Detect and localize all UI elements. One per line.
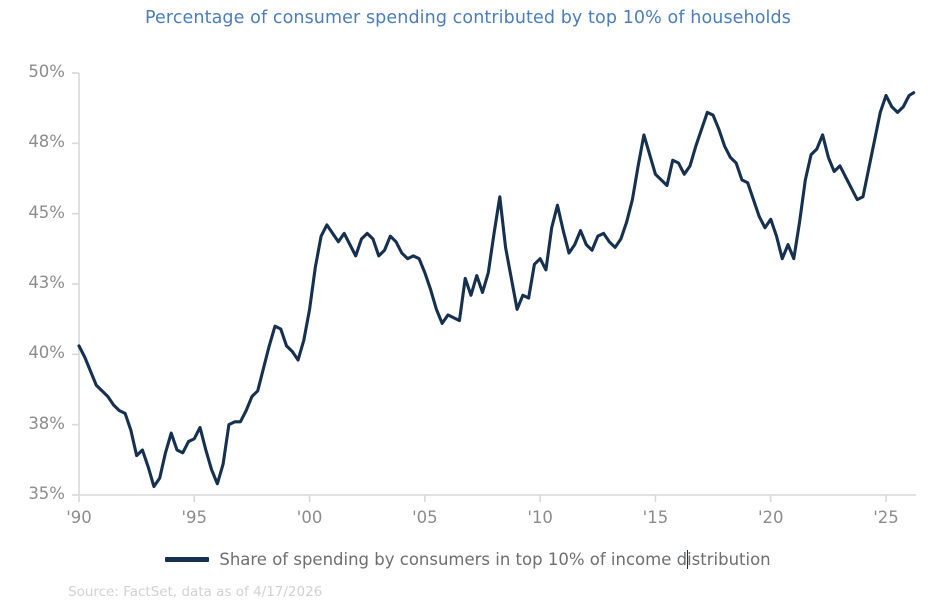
x-axis-tick-label: '20	[741, 508, 801, 527]
y-axis-tick-label: 48%	[3, 132, 65, 151]
x-axis-tick-label: '00	[280, 508, 340, 527]
source-note: Source: FactSet, data as of 4/17/2026	[68, 584, 322, 600]
x-axis-tick-label: '90	[49, 508, 109, 527]
legend-label[interactable]: Share of spending by consumers in top 10…	[219, 550, 770, 569]
y-axis-tick-label: 43%	[3, 273, 65, 292]
chart-legend: Share of spending by consumers in top 10…	[0, 550, 936, 569]
x-axis-tick-label: '05	[395, 508, 455, 527]
x-axis-tick-label: '15	[625, 508, 685, 527]
chart-figure: Percentage of consumer spending contribu…	[0, 0, 936, 615]
legend-line-swatch	[165, 557, 209, 562]
y-axis-tick-label: 38%	[3, 414, 65, 433]
x-axis-tick-label: '95	[164, 508, 224, 527]
data-series-line	[79, 93, 914, 487]
y-axis-tick-label: 35%	[3, 484, 65, 503]
legend-label-text-before-caret: Share of spending by consumers in top 10…	[219, 550, 687, 569]
y-axis-tick-label: 45%	[3, 203, 65, 222]
legend-label-text-after-caret: istribution	[687, 550, 771, 569]
y-axis-tick-label: 50%	[3, 62, 65, 81]
x-axis-tick-label: '25	[856, 508, 916, 527]
x-axis-tick-label: '10	[510, 508, 570, 527]
y-axis-tick-label: 40%	[3, 343, 65, 362]
